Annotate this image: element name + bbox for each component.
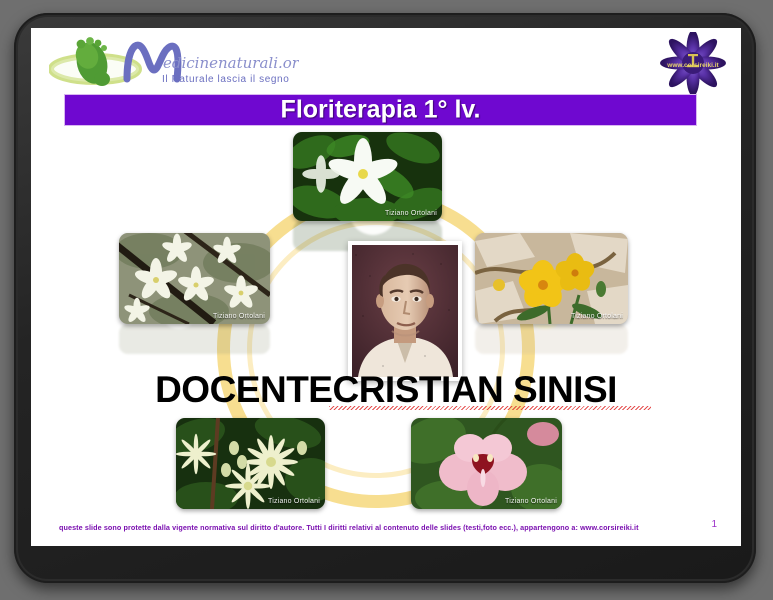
photo-credit: Tiziano Ortolani — [505, 498, 557, 505]
yellow-rockrose-image — [475, 233, 628, 324]
corsireiki-flower-logo[interactable]: www.corsireiki.it www.corsireiki.it — [657, 32, 729, 94]
slide-title: Floriterapia 1° lv. — [65, 96, 696, 125]
svg-text:Il Naturale lascia il segno: Il Naturale lascia il segno — [162, 74, 289, 85]
white-flower-photo[interactable]: Tiziano Ortolani — [293, 132, 442, 221]
presentation-slide: edicinenaturali.org Il Naturale lascia i… — [31, 28, 741, 546]
svg-text:edicinenaturali.org: edicinenaturali.org — [163, 54, 299, 72]
medicinenaturali-logo-icon: edicinenaturali.org Il Naturale lascia i… — [49, 35, 299, 87]
headline-docente: DOCENTE — [155, 369, 332, 410]
pink-impatiens-photo[interactable]: Tiziano Ortolani — [411, 418, 562, 509]
photo-credit: Tiziano Ortolani — [268, 498, 320, 505]
spellcheck-squiggle — [329, 406, 651, 410]
headline-name: CRISTIAN SINISI — [332, 369, 616, 410]
photo-credit: Tiziano Ortolani — [213, 313, 265, 320]
copyright-footer: queste slide sono protette dalla vigente… — [59, 523, 679, 532]
edward-bach-portrait[interactable] — [348, 241, 462, 381]
purple-flower-icon: www.corsireiki.it — [657, 32, 729, 94]
slide-title-banner: Floriterapia 1° lv. — [64, 94, 697, 126]
clematis-flower-photo[interactable]: Tiziano Ortolani — [176, 418, 325, 509]
clematis-flower-image — [176, 418, 325, 509]
pink-impatiens-image — [411, 418, 562, 509]
photo-credit: Tiziano Ortolani — [385, 210, 437, 217]
blackthorn-blossom-image — [119, 233, 270, 324]
medicinenaturali-logo[interactable]: edicinenaturali.org Il Naturale lascia i… — [49, 35, 299, 87]
portrait-photo — [352, 245, 458, 377]
corsireiki-url-text: www.corsireiki.it — [666, 62, 719, 69]
yellow-rockrose-photo[interactable]: Tiziano Ortolani — [475, 233, 628, 324]
blackthorn-blossom-photo[interactable]: Tiziano Ortolani — [119, 233, 270, 324]
screenshot-root: edicinenaturali.org Il Naturale lascia i… — [0, 0, 773, 600]
portrait-image — [352, 245, 458, 377]
white-flower-image — [293, 132, 442, 221]
photo-credit: Tiziano Ortolani — [571, 313, 623, 320]
page-number: 1 — [711, 519, 717, 530]
page-title: DOCENTECRISTIAN SINISI — [31, 369, 741, 411]
